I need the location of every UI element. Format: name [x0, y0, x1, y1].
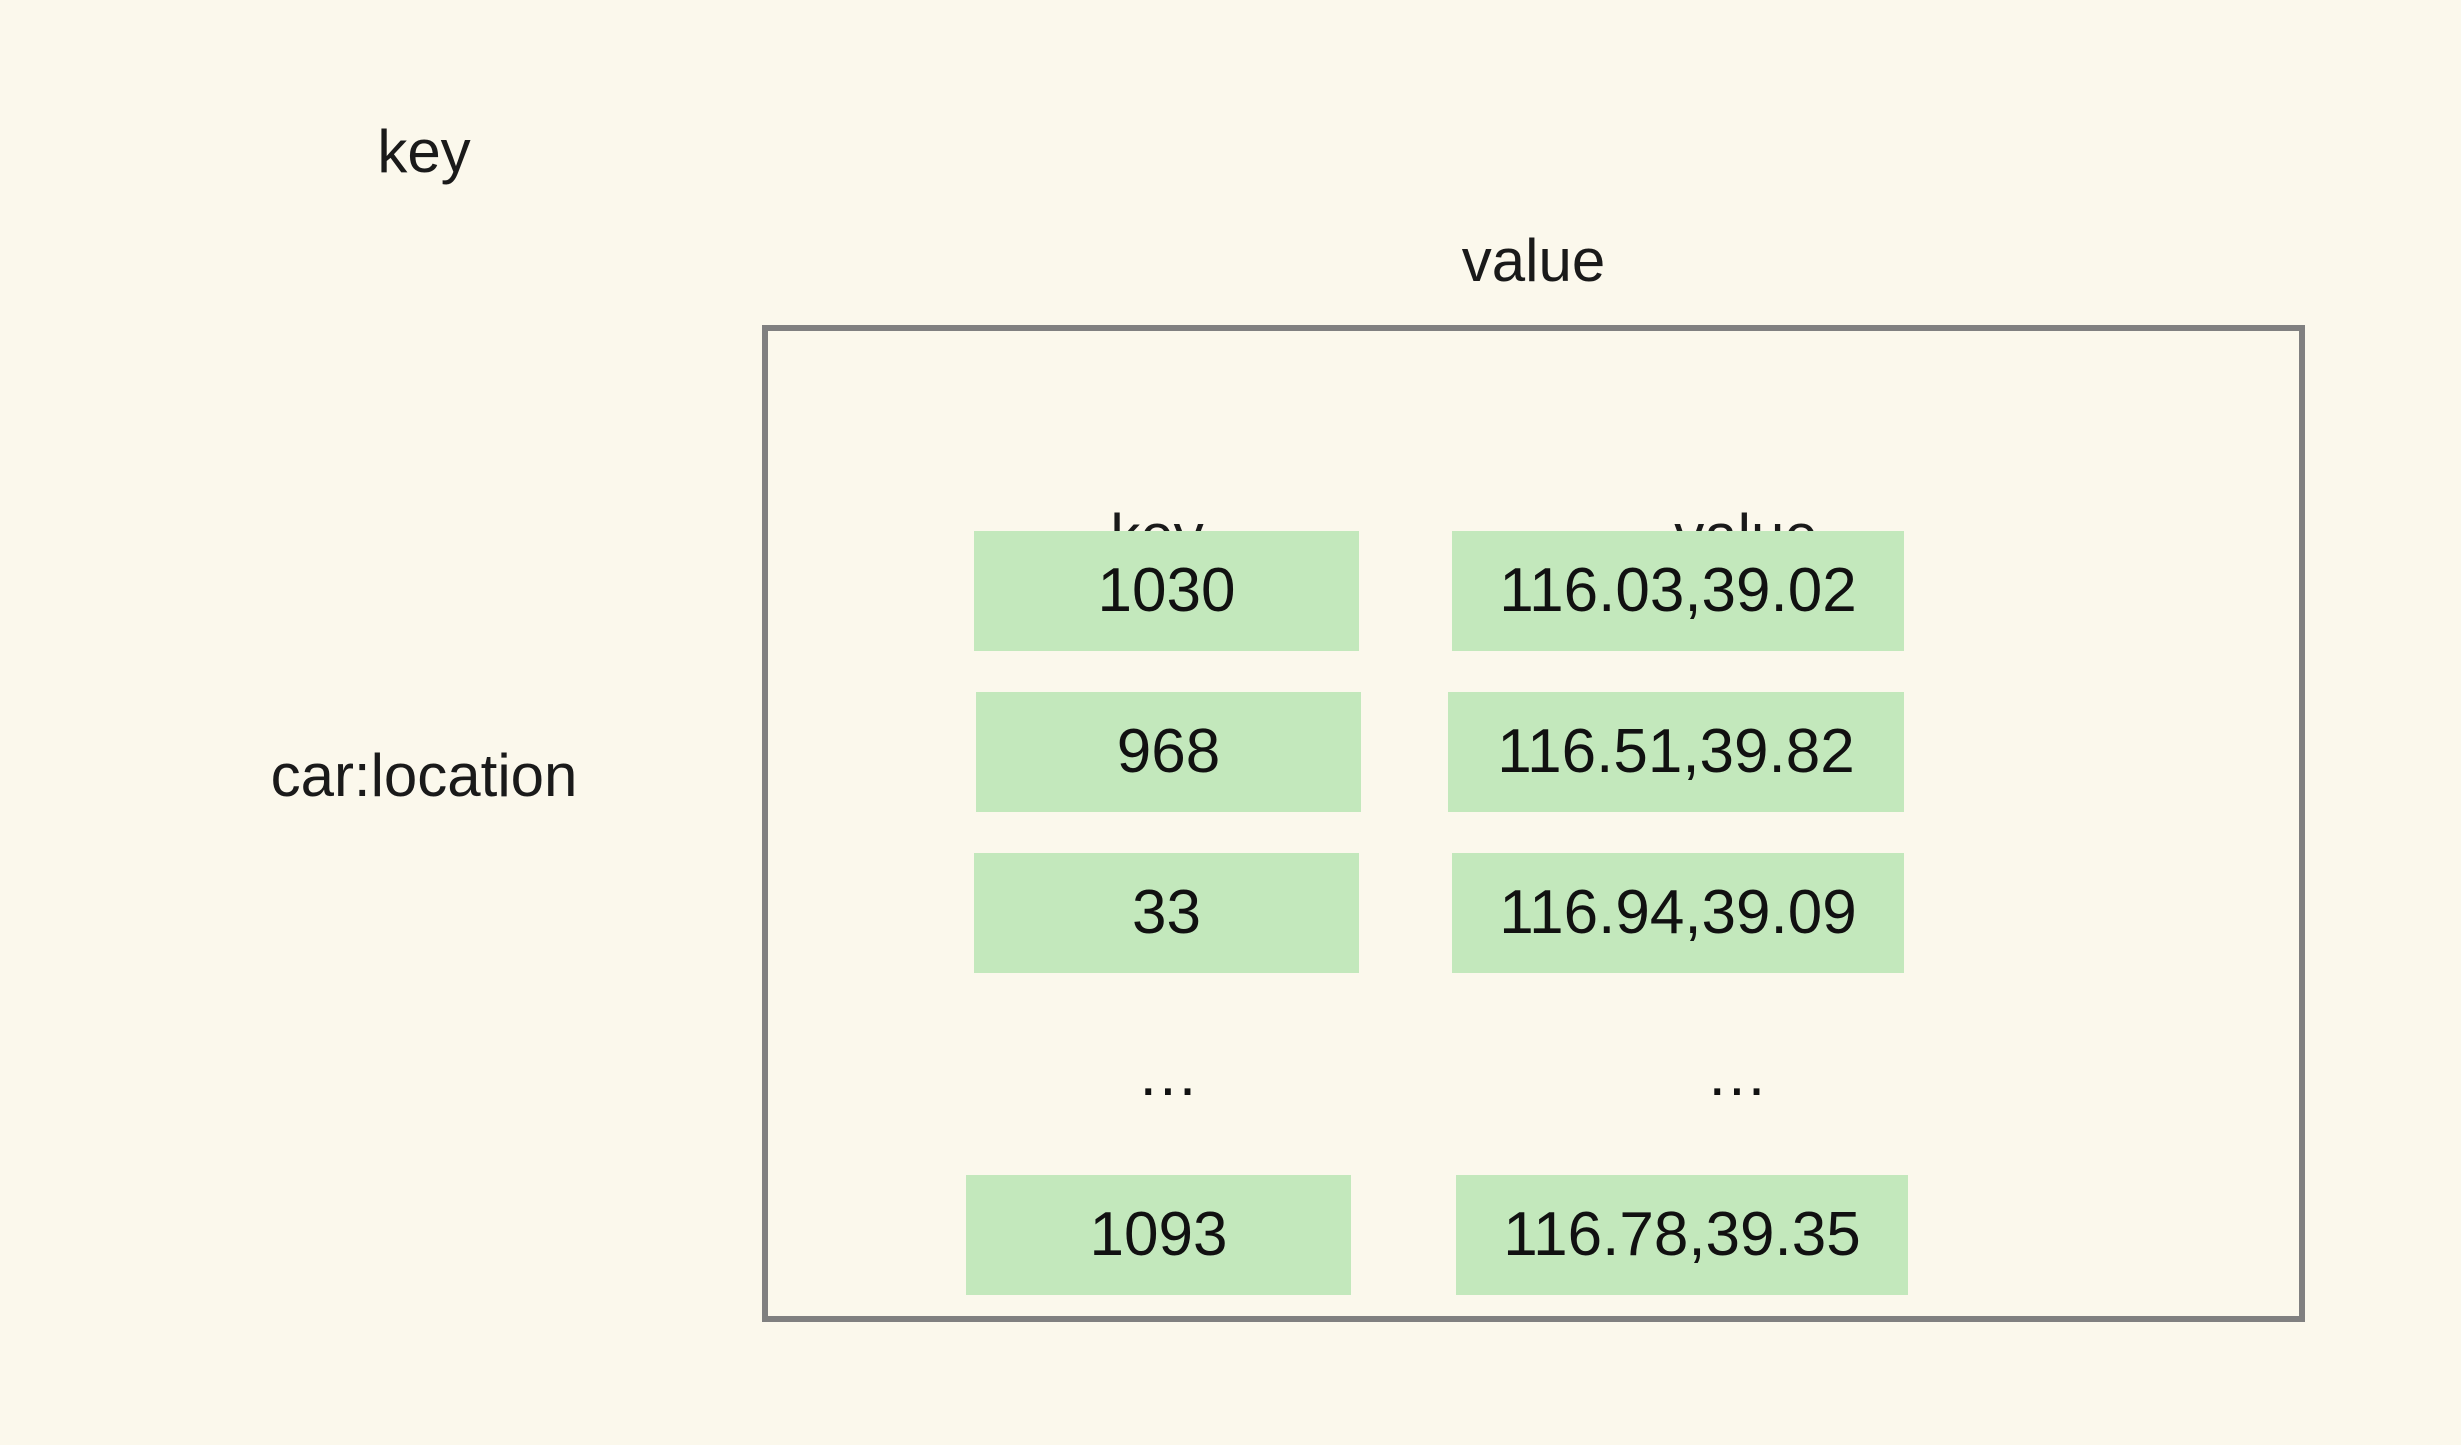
hash-value-cells: 116.03,39.02 116.51,39.82 116.94,39.09 …… — [1438, 531, 2054, 1336]
hash-field-cells: 1030 968 33 … 1093 — [884, 531, 1430, 1336]
hash-value-cell: 116.78,39.35 — [1456, 1175, 1908, 1295]
table-row: 116.51,39.82 — [1438, 692, 2054, 812]
table-row: 116.78,39.35 — [1438, 1175, 2054, 1295]
diagram-canvas: key value （Hash类型，记录车辆ID和经纬度） car:locati… — [0, 0, 2461, 1445]
hash-field-ellipsis: … — [898, 1014, 1444, 1134]
table-row: 116.94,39.09 — [1438, 853, 2054, 973]
hash-value-column: value （经纬度） 116.03,39.02 116.51,39.82 11… — [1438, 331, 2054, 1316]
table-row: 1093 — [884, 1175, 1430, 1295]
table-row-ellipsis: … — [884, 1014, 1430, 1134]
hash-field-column: key （车辆ID） 1030 968 33 … — [884, 331, 1430, 1316]
hash-value-cell: 116.51,39.82 — [1448, 692, 1904, 812]
hash-field-table: key （车辆ID） 1030 968 33 … — [768, 331, 2299, 1316]
hash-value-ellipsis: … — [1432, 1014, 2048, 1134]
table-row: 968 — [884, 692, 1430, 812]
hash-field-cell: 1093 — [966, 1175, 1351, 1295]
hash-field-cell: 1030 — [974, 531, 1359, 651]
hash-value-cell: 116.03,39.02 — [1452, 531, 1904, 651]
table-row: 116.03,39.02 — [1438, 531, 2054, 651]
redis-key-name: car:location — [176, 742, 672, 810]
key-column-caption: key — [176, 118, 672, 186]
hash-value-cell: 116.94,39.09 — [1452, 853, 1904, 973]
hash-value-box: key （车辆ID） 1030 968 33 … — [762, 325, 2305, 1322]
hash-field-cell: 33 — [974, 853, 1359, 973]
value-caption-line-1: value — [762, 227, 2305, 295]
table-row: 33 — [884, 853, 1430, 973]
table-row-ellipsis: … — [1438, 1014, 2054, 1134]
table-row: 1030 — [884, 531, 1430, 651]
hash-field-cell: 968 — [976, 692, 1361, 812]
